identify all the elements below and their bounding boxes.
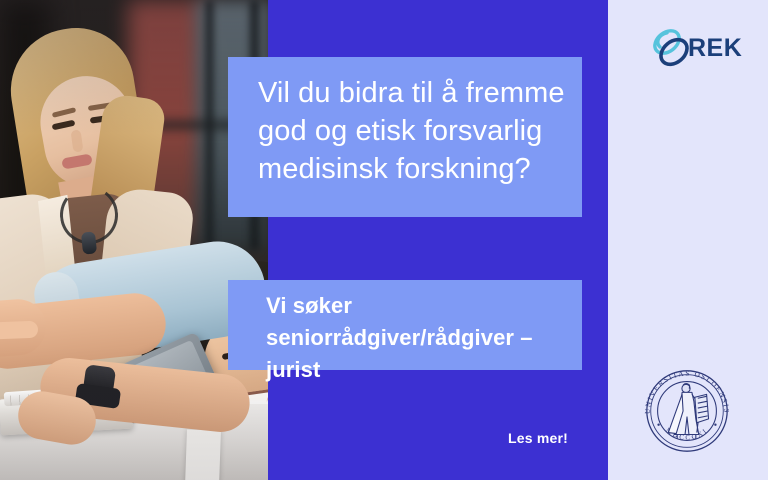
recruitment-banner: Vil du bidra til å fremme god og etisk f…	[0, 0, 768, 480]
headline-text: Vil du bidra til å fremme god og etisk f…	[258, 74, 568, 188]
rek-logo[interactable]: REK	[650, 26, 740, 72]
subheadline-text: Vi søker seniorrådgiver/rådgiver – juris…	[266, 290, 582, 386]
uio-seal: UNIVERSITAS OSLOENSIS MDCCCXI	[638, 362, 736, 460]
rek-wordmark: REK	[688, 34, 742, 63]
uio-seal-icon: UNIVERSITAS OSLOENSIS MDCCCXI	[638, 362, 736, 460]
les-mer-link[interactable]: Les mer!	[508, 430, 568, 446]
